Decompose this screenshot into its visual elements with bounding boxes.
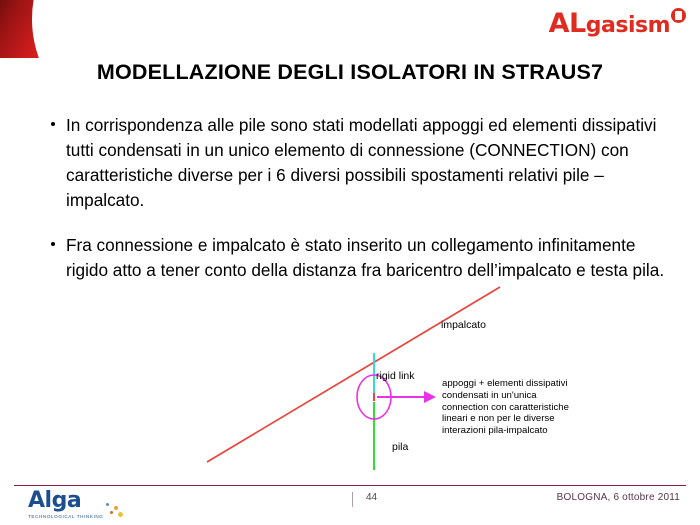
brand-logo-text-lower: gasism bbox=[586, 13, 670, 38]
registered-badge-icon bbox=[671, 8, 686, 23]
page-number: 44 bbox=[366, 492, 377, 503]
diagram-label-connection: appoggi + elementi dissipativi condensat… bbox=[442, 378, 582, 437]
registered-badge-glyph bbox=[675, 11, 682, 20]
bullet-item: Fra connessione e impalcato è stato inse… bbox=[50, 233, 665, 283]
diagram-label-deck: impalcato bbox=[441, 319, 486, 331]
diagram-label-rigid-link: rigid link bbox=[376, 370, 415, 382]
footer-place-date: BOLOGNA, 6 ottobre 2011 bbox=[557, 492, 680, 503]
logo-dot bbox=[110, 511, 113, 514]
callout-arrow-head-icon bbox=[424, 391, 436, 403]
brand-logo: ALgasism bbox=[549, 9, 686, 43]
bullet-marker-icon bbox=[51, 242, 55, 246]
bullet-marker-icon bbox=[51, 122, 55, 126]
footer: Alga TECHNOLOGICAL THINKING 44 BOLOGNA, … bbox=[0, 486, 700, 525]
logo-dot bbox=[118, 512, 123, 517]
corner-decoration bbox=[0, 0, 126, 58]
logo-dot bbox=[106, 503, 109, 506]
company-logo: Alga TECHNOLOGICAL THINKING bbox=[28, 490, 128, 522]
bullet-text: Fra connessione e impalcato è stato inse… bbox=[66, 235, 664, 280]
diagram-label-pier: pila bbox=[392, 441, 408, 453]
footer-separator bbox=[352, 492, 353, 507]
bullet-text: In corrispondenza alle pile sono stati m… bbox=[66, 115, 656, 210]
slide-body: In corrispondenza alle pile sono stati m… bbox=[50, 113, 665, 303]
company-logo-dots-icon bbox=[104, 502, 126, 518]
slide: ALgasism MODELLAZIONE DEGLI ISOLATORI IN… bbox=[0, 0, 700, 525]
logo-dot bbox=[114, 506, 118, 510]
brand-logo-text-upper: AL bbox=[549, 8, 586, 39]
deck-line bbox=[207, 287, 500, 462]
connection-highlight-ellipse bbox=[357, 375, 391, 419]
brand-logo-text: ALgasism bbox=[549, 9, 670, 41]
bullet-item: In corrispondenza alle pile sono stati m… bbox=[50, 113, 665, 213]
page-title: MODELLAZIONE DEGLI ISOLATORI IN STRAUS7 bbox=[0, 60, 700, 85]
corner-decoration-cutout bbox=[32, 0, 126, 58]
